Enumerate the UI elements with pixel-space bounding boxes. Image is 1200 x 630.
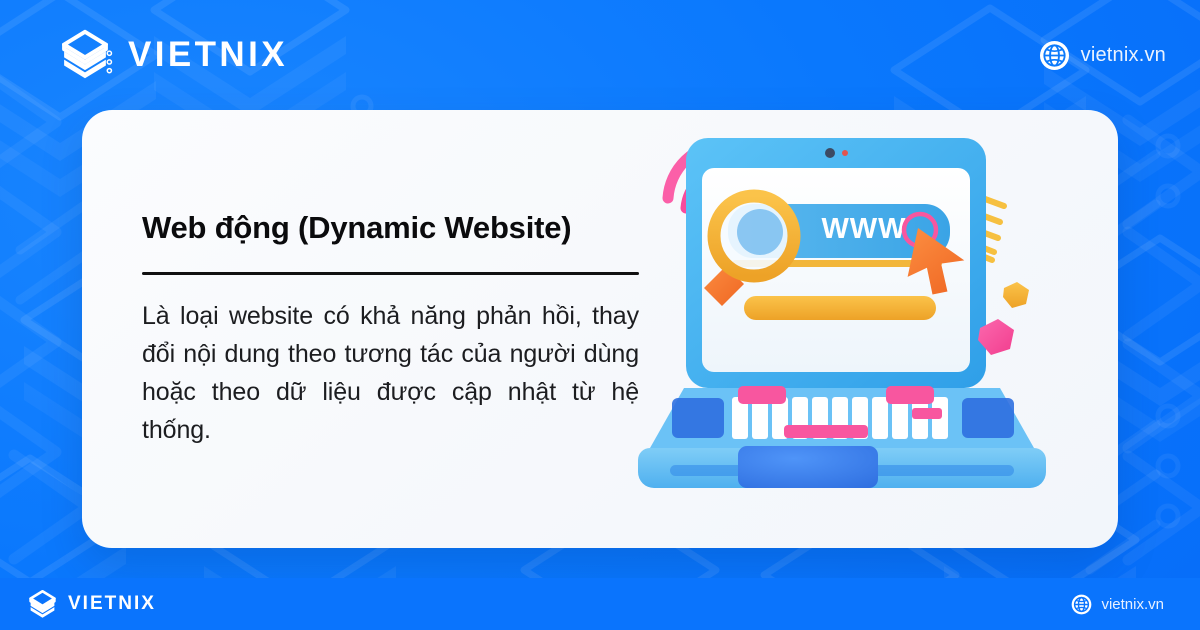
footer-website-link[interactable]: vietnix.vn	[1071, 594, 1164, 615]
globe-icon	[1039, 40, 1070, 71]
content-card: Web động (Dynamic Website) Là loại websi…	[82, 110, 1118, 548]
dynamic-website-laptop-illustration: WWW	[632, 120, 1052, 540]
title-divider	[142, 272, 639, 275]
floating-cube	[1003, 282, 1029, 308]
search-bar-www-label: WWW	[821, 213, 906, 245]
header-brand[interactable]: VIETNIX	[56, 26, 288, 84]
footer-brand[interactable]: VIETNIX	[26, 588, 156, 621]
globe-icon	[1071, 594, 1092, 615]
footer-brand-name: VIETNIX	[68, 593, 156, 615]
vietnix-layers-logo-icon	[56, 26, 114, 84]
footer-bar: VIETNIX vietnix.vn	[0, 578, 1200, 630]
vietnix-layers-logo-icon	[26, 588, 59, 621]
header-bar: VIETNIX vietnix.vn	[0, 0, 1200, 110]
content-bar	[744, 296, 936, 320]
laptop-trackpad	[738, 446, 878, 488]
description-text: Là loại website có khả năng phản hồi, th…	[142, 297, 639, 449]
card-illustration-column: WWW	[642, 110, 1118, 548]
card-text-column: Web động (Dynamic Website) Là loại websi…	[82, 209, 642, 448]
spacebar-key	[784, 425, 868, 438]
footer-website-text: vietnix.vn	[1101, 596, 1164, 613]
page-title: Web động (Dynamic Website)	[142, 209, 632, 248]
brand-name: VIETNIX	[128, 35, 288, 75]
header-website-text: vietnix.vn	[1081, 44, 1166, 67]
header-website-link[interactable]: vietnix.vn	[1039, 40, 1166, 71]
poster-canvas: VIETNIX vietnix.vn Web động (Dynamic Web…	[0, 0, 1200, 630]
